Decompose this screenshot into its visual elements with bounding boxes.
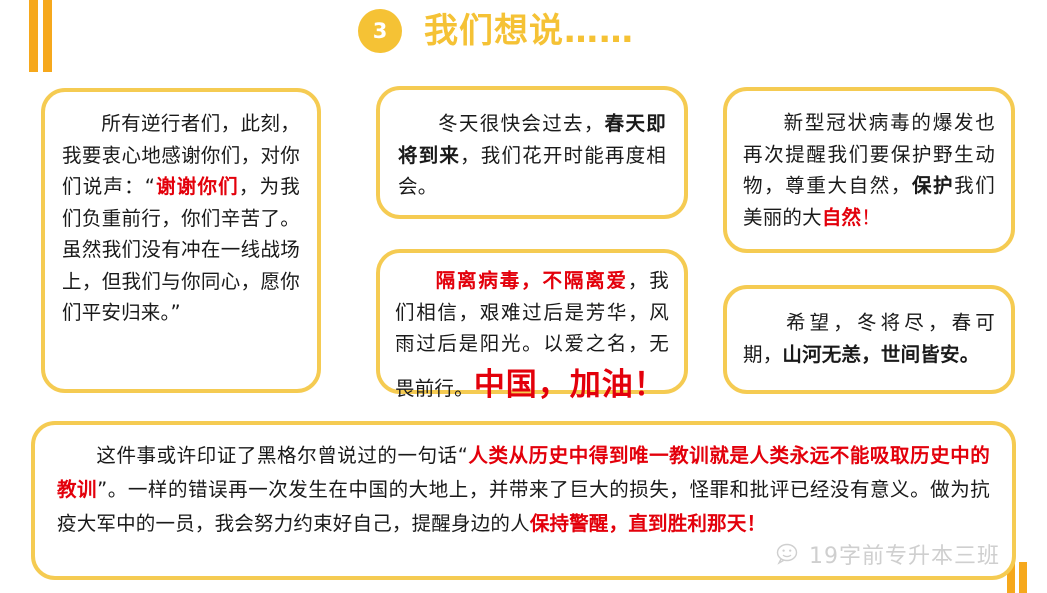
card-spring: 冬天很快会过去，春天即将到来，我们花开时能再度相会。: [376, 86, 688, 219]
text-segment-2: 中国，加油！: [474, 367, 666, 403]
decor-bar-top-left-2: [43, 0, 52, 72]
text-segment-0: 隔离病毒，不隔离爱: [434, 269, 628, 292]
slide-header: 3 我们想说……: [358, 9, 634, 53]
text-segment-1: 谢谢你们: [155, 175, 239, 198]
card-bottom: 这件事或许印证了黑格尔曾说过的一句话“人类从历史中得到唯一教训就是人类永远不能吸…: [31, 421, 1016, 580]
card-hope-text: 希望，冬将尽，春可期，山河无恙，世间皆安。: [743, 307, 995, 370]
card-thanks-text: 所有逆行者们，此刻，我要衷心地感谢你们，对你们说声：“谢谢你们，为我们负重前行，…: [62, 108, 300, 329]
card-thanks: 所有逆行者们，此刻，我要衷心地感谢你们，对你们说声：“谢谢你们，为我们负重前行，…: [41, 88, 321, 393]
text-segment-3: 保持警醒，直到胜利那天！: [530, 512, 766, 535]
text-segment-4: ！: [861, 206, 881, 229]
card-love-text: 隔离病毒，不隔离爱，我们相信，艰难过后是芳华，风雨过后是阳光。以爱之名，无畏前行…: [395, 265, 669, 410]
text-segment-2: ”。一样的错误再一次发生在中国的大地上，并带来了巨大的损失，怪罪和批评已经没有意…: [57, 478, 990, 535]
text-segment-1: 山河无恙，世间皆安。: [782, 343, 979, 366]
text-segment-3: 自然: [822, 206, 861, 229]
section-number-badge: 3: [358, 9, 402, 53]
card-spring-text: 冬天很快会过去，春天即将到来，我们花开时能再度相会。: [398, 108, 666, 203]
slide-canvas: 3 我们想说…… 所有逆行者们，此刻，我要衷心地感谢你们，对你们说声：“谢谢你们…: [0, 0, 1047, 593]
page-title: 我们想说……: [424, 14, 634, 48]
decor-bar-top-left-1: [29, 0, 38, 72]
card-hope: 希望，冬将尽，春可期，山河无恙，世间皆安。: [723, 285, 1015, 394]
card-nature: 新型冠状病毒的爆发也再次提醒我们要保护野生动物，尊重大自然，保护我们美丽的大自然…: [723, 87, 1015, 253]
decor-bar-bottom-right-2: [1019, 562, 1027, 593]
card-nature-text: 新型冠状病毒的爆发也再次提醒我们要保护野生动物，尊重大自然，保护我们美丽的大自然…: [743, 107, 995, 233]
card-bottom-text: 这件事或许印证了黑格尔曾说过的一句话“人类从历史中得到唯一教训就是人类永远不能吸…: [57, 439, 990, 541]
card-love: 隔离病毒，不隔离爱，我们相信，艰难过后是芳华，风雨过后是阳光。以爱之名，无畏前行…: [376, 249, 688, 394]
text-segment-0: 冬天很快会过去，: [437, 112, 605, 135]
text-segment-0: 这件事或许印证了黑格尔曾说过的一句话“: [96, 444, 468, 467]
text-segment-1: 保护: [912, 174, 954, 197]
